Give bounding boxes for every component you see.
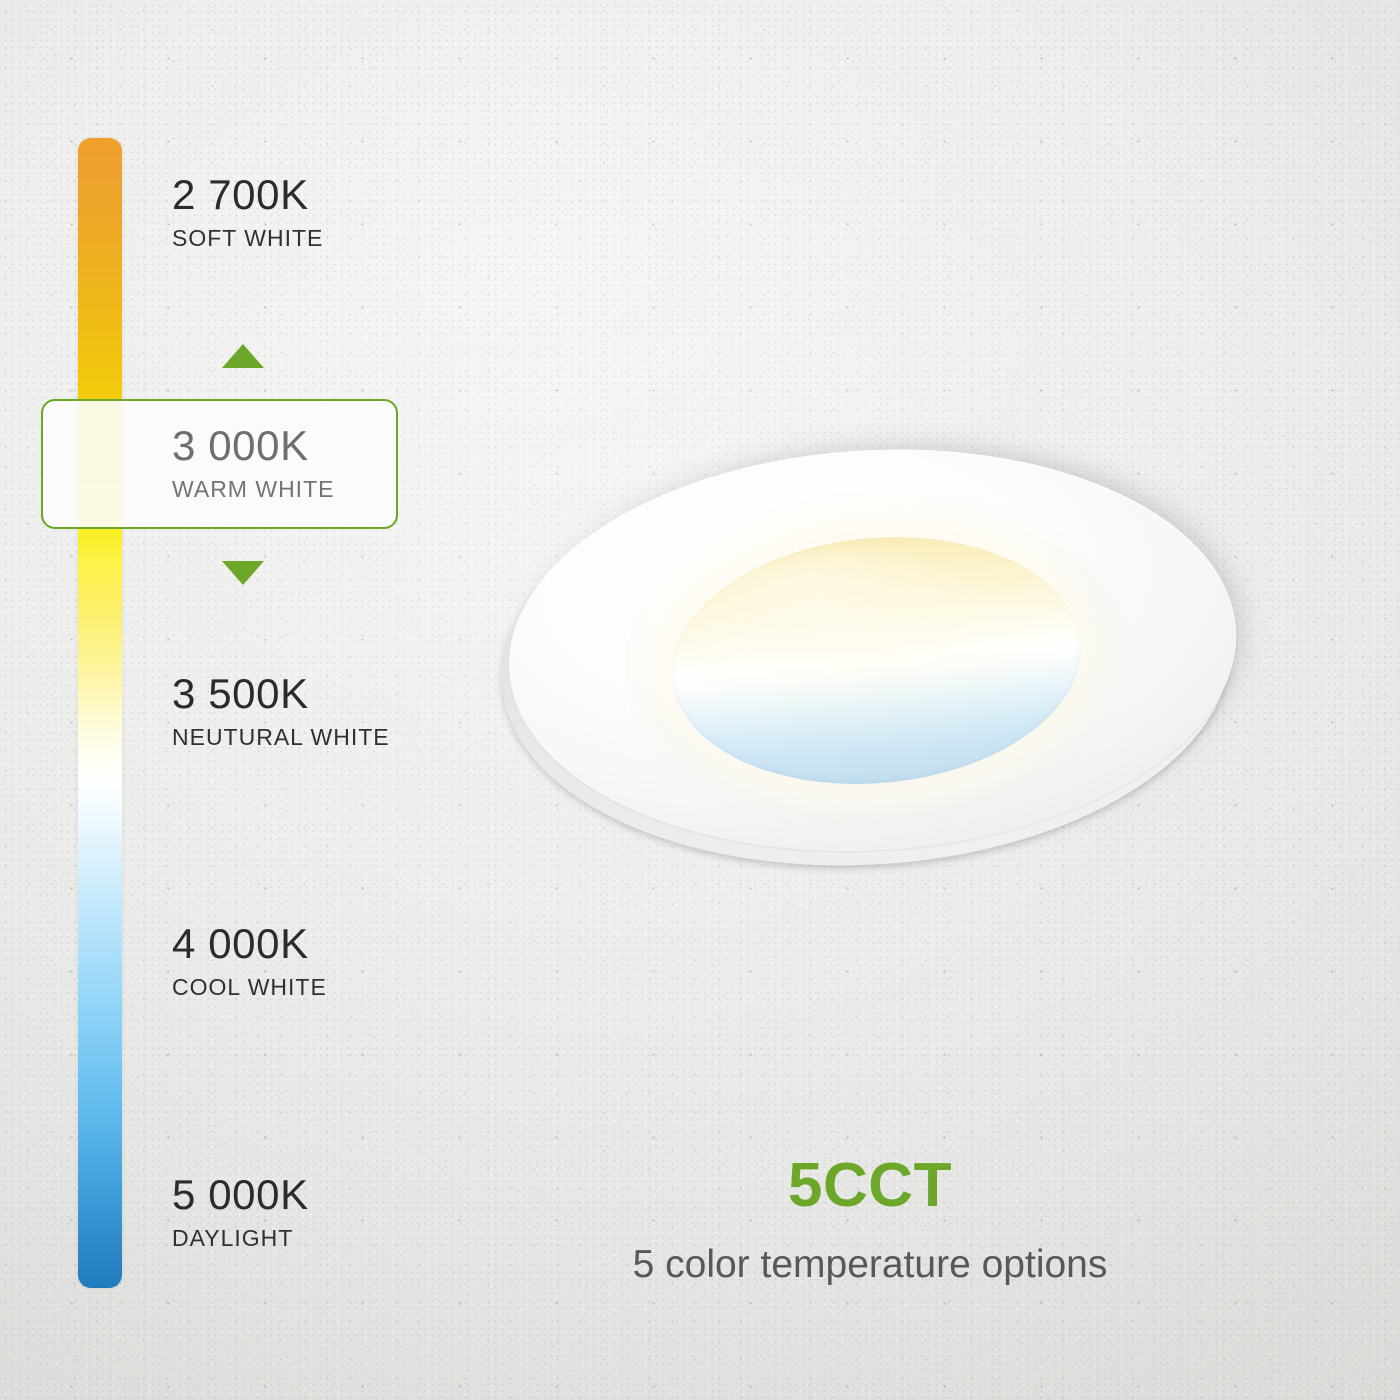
triangle-up-icon[interactable] [222,344,264,368]
recessed-downlight-fixture [486,423,1269,890]
cct-option-4000k[interactable]: 4 000K COOL WHITE [172,922,327,999]
cct-option-5000k[interactable]: 5 000K DAYLIGHT [172,1173,309,1250]
headline-title: 5CCT [560,1155,1180,1217]
headline-block: 5CCT 5 color temperature options [560,1155,1180,1286]
cct-gradient-scale-bar [78,138,122,1288]
cct-option-3500k[interactable]: 3 500K NEUTURAL WHITE [172,672,390,749]
product-feature-graphic: 2 700K SOFT WHITE 3 000K WARM WHITE 3 50… [0,0,1400,1400]
cct-option-name: SOFT WHITE [172,226,323,250]
triangle-down-icon[interactable] [222,561,264,585]
cct-option-2700k[interactable]: 2 700K SOFT WHITE [172,173,323,250]
cct-kelvin-value: 3 000K [172,424,334,468]
cct-kelvin-value: 5 000K [172,1173,309,1217]
cct-option-name: NEUTURAL WHITE [172,725,390,749]
cct-kelvin-value: 4 000K [172,922,327,966]
cct-kelvin-value: 2 700K [172,173,323,217]
cct-option-3000k[interactable]: 3 000K WARM WHITE [172,424,334,501]
cct-option-name: DAYLIGHT [172,1226,309,1250]
cct-option-name: WARM WHITE [172,477,334,501]
headline-subtitle: 5 color temperature options [560,1245,1180,1286]
cct-option-name: COOL WHITE [172,975,327,999]
cct-kelvin-value: 3 500K [172,672,390,716]
